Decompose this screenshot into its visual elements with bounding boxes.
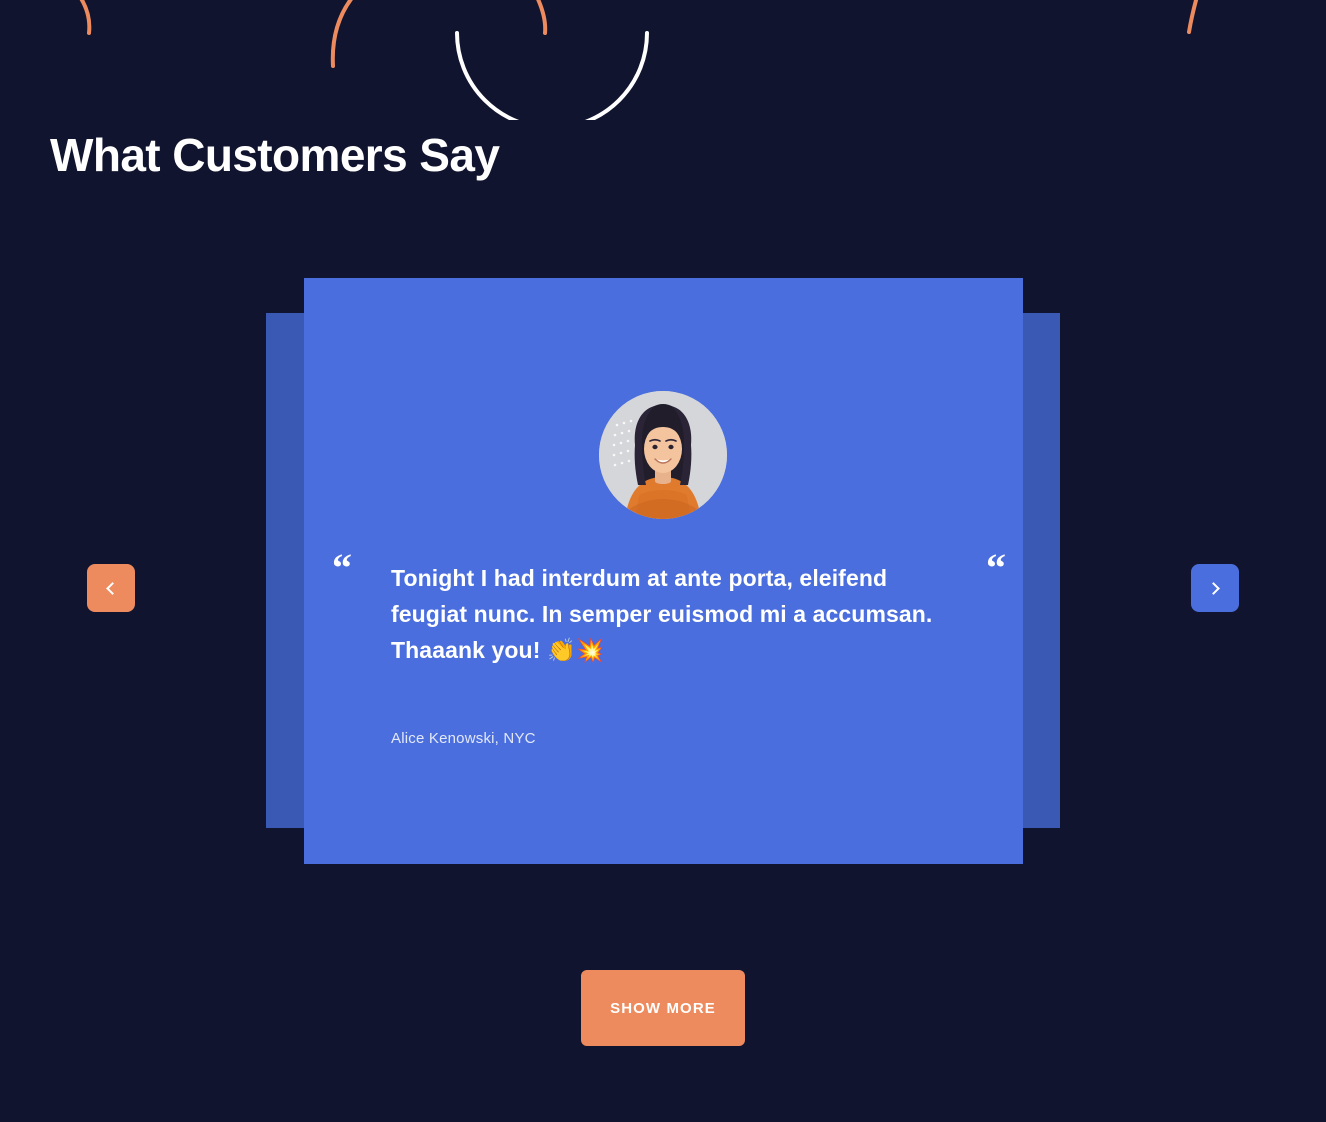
show-more-button[interactable]: SHOW MORE [581,970,745,1046]
avatar-photo [599,391,727,519]
carousel-prev-button[interactable] [87,564,135,612]
carousel-next-button[interactable] [1191,564,1239,612]
chevron-left-icon [106,582,119,595]
testimonial-quote: Tonight I had interdum at ante porta, el… [391,560,936,668]
quote-open-icon: “ [332,548,352,588]
quote-close-icon: “ [986,548,1006,588]
testimonial-carousel: “ “ Tonight I had interdum at ante porta… [0,0,1326,1122]
testimonial-author: Alice Kenowski, NYC [391,730,536,747]
chevron-right-icon [1207,582,1220,595]
testimonial-card: “ “ Tonight I had interdum at ante porta… [304,278,1023,864]
avatar [599,391,727,519]
